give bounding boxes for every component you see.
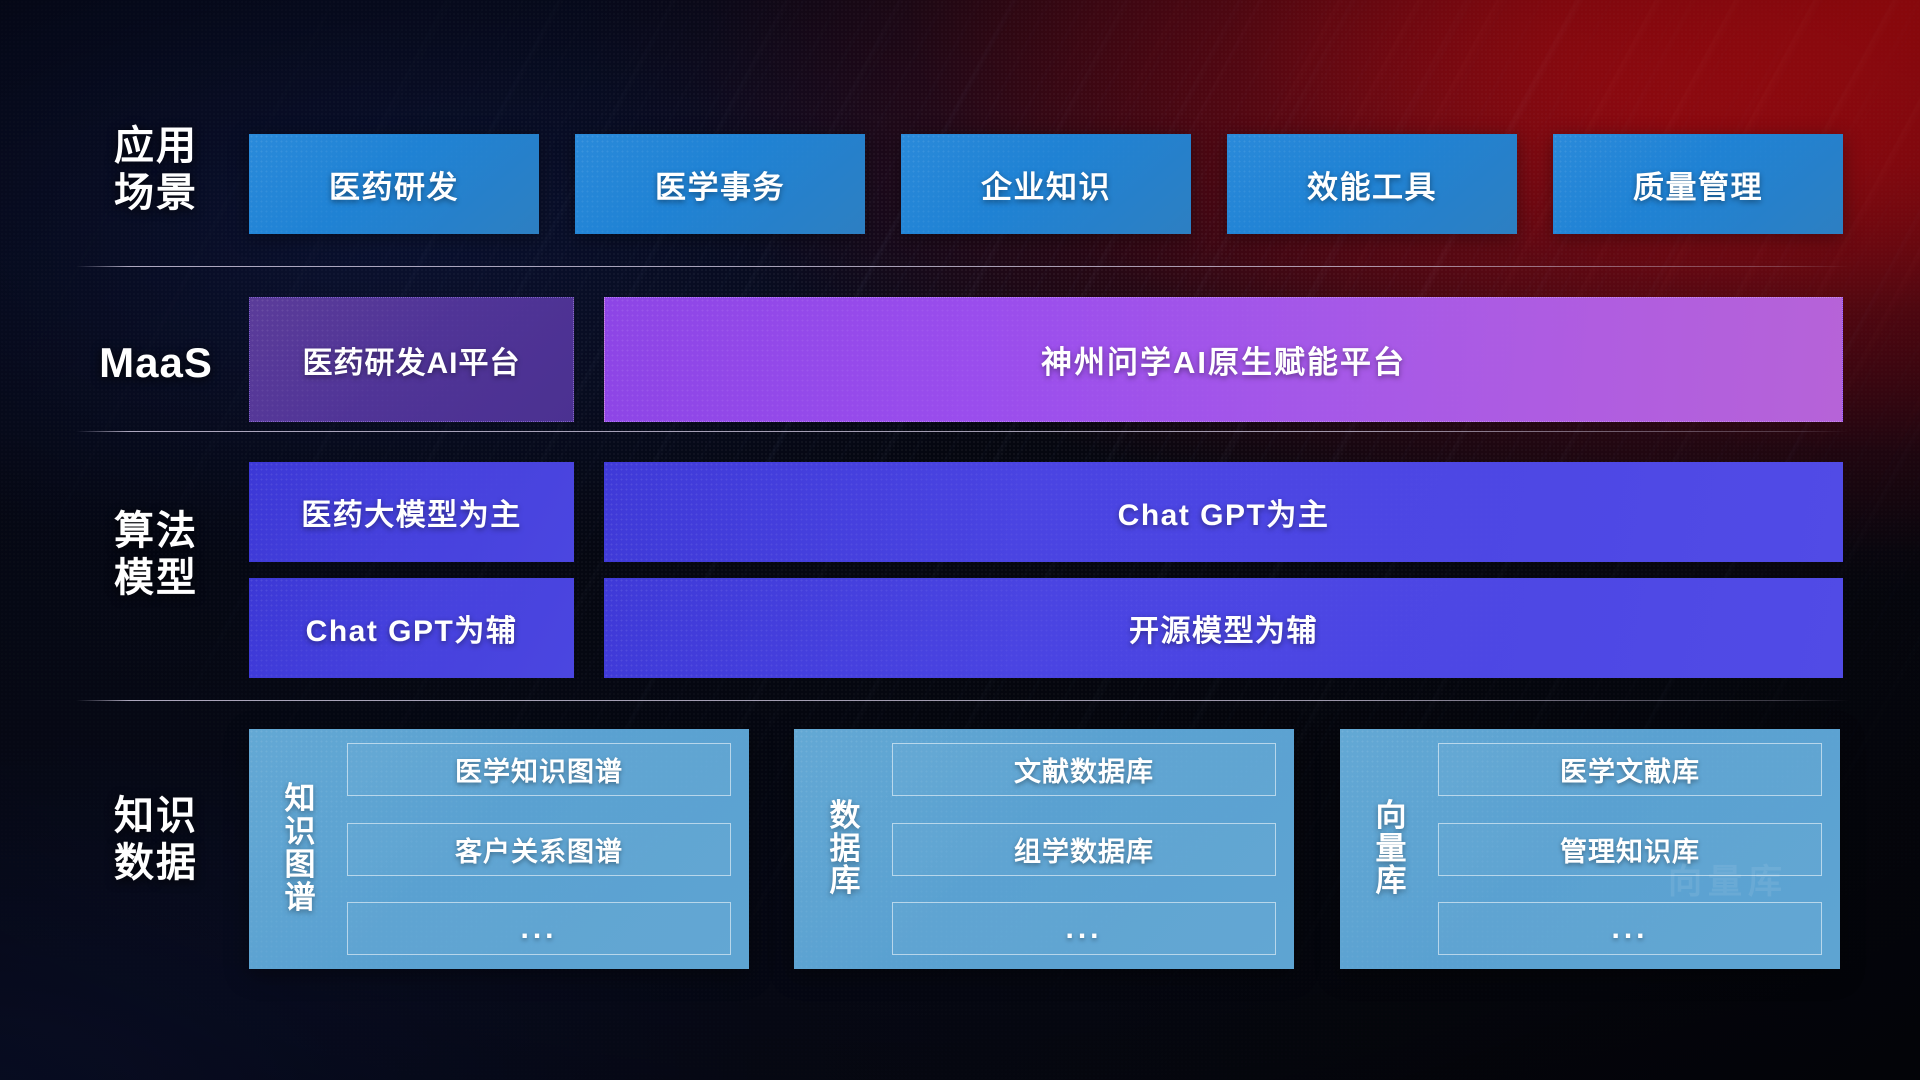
maas-box-drug-rnd-ai-platform[interactable]: 医药研发AI平台 bbox=[249, 297, 574, 422]
knowledge-item[interactable]: 组学数据库 bbox=[892, 823, 1276, 876]
maas-box-label: 医药研发AI平台 bbox=[303, 338, 521, 382]
maas-box-label: 神州问学AI原生赋能平台 bbox=[1041, 337, 1406, 382]
algo-box-label: Chat GPT为主 bbox=[1118, 490, 1330, 534]
algo-box-chatgpt-secondary[interactable]: Chat GPT为辅 bbox=[249, 578, 574, 678]
app-box-label: 效能工具 bbox=[1307, 162, 1437, 207]
app-box-label: 医药研发 bbox=[329, 162, 459, 207]
row-label-knowledge-data: 知识 数据 bbox=[76, 793, 236, 887]
knowledge-panel-item-list: 医学知识图谱 客户关系图谱 ... bbox=[347, 743, 731, 955]
maas-box-shenzhou-wenxue-platform[interactable]: 神州问学AI原生赋能平台 bbox=[604, 297, 1843, 422]
app-box-quality-management[interactable]: 质量管理 bbox=[1553, 134, 1843, 234]
algo-box-label: 医药大模型为主 bbox=[301, 490, 522, 534]
knowledge-panel-vertical-label: 向 量 库 bbox=[1354, 800, 1428, 899]
knowledge-item[interactable]: 管理知识库 bbox=[1438, 823, 1822, 876]
row-label-maas: MaaS bbox=[76, 338, 236, 388]
knowledge-panel-knowledge-graph[interactable]: 知 识 图 谱 医学知识图谱 客户关系图谱 ... bbox=[249, 729, 749, 969]
algo-box-label: Chat GPT为辅 bbox=[306, 606, 518, 650]
knowledge-panel-item-list: 医学文献库 管理知识库 ... bbox=[1438, 743, 1822, 955]
knowledge-panel-database[interactable]: 数 据 库 文献数据库 组学数据库 ... bbox=[794, 729, 1294, 969]
knowledge-item-more[interactable]: ... bbox=[1438, 902, 1822, 955]
app-box-drug-rnd[interactable]: 医药研发 bbox=[249, 134, 539, 234]
app-box-medical-affairs[interactable]: 医学事务 bbox=[575, 134, 865, 234]
app-box-enterprise-knowledge[interactable]: 企业知识 bbox=[901, 134, 1191, 234]
knowledge-item[interactable]: 文献数据库 bbox=[892, 743, 1276, 796]
knowledge-item[interactable]: 医学知识图谱 bbox=[347, 743, 731, 796]
algo-box-drug-large-model-primary[interactable]: 医药大模型为主 bbox=[249, 462, 574, 562]
divider-after-application-row bbox=[76, 266, 1850, 267]
divider-after-algorithm-row bbox=[76, 700, 1850, 701]
knowledge-panel-vector-store[interactable]: 向量库 向 量 库 医学文献库 管理知识库 ... bbox=[1340, 729, 1840, 969]
knowledge-item-more[interactable]: ... bbox=[347, 902, 731, 955]
knowledge-panel-item-list: 文献数据库 组学数据库 ... bbox=[892, 743, 1276, 955]
app-box-label: 企业知识 bbox=[981, 162, 1111, 207]
row-label-application-scenarios: 应用 场景 bbox=[76, 123, 236, 217]
knowledge-panel-vertical-label: 知 识 图 谱 bbox=[263, 783, 337, 914]
algo-box-opensource-secondary[interactable]: 开源模型为辅 bbox=[604, 578, 1843, 678]
knowledge-item[interactable]: 客户关系图谱 bbox=[347, 823, 731, 876]
diagram-content: 应用 场景 医药研发 医学事务 企业知识 效能工具 质量管理 MaaS 医药研发… bbox=[0, 0, 1920, 1080]
app-box-label: 医学事务 bbox=[655, 162, 785, 207]
knowledge-panel-vertical-label: 数 据 库 bbox=[808, 800, 882, 899]
divider-after-maas-row bbox=[76, 431, 1850, 432]
knowledge-item-more[interactable]: ... bbox=[892, 902, 1276, 955]
algo-box-label: 开源模型为辅 bbox=[1129, 606, 1318, 650]
knowledge-item[interactable]: 医学文献库 bbox=[1438, 743, 1822, 796]
app-box-label: 质量管理 bbox=[1633, 162, 1763, 207]
app-box-efficiency-tools[interactable]: 效能工具 bbox=[1227, 134, 1517, 234]
row-label-algorithm-models: 算法 模型 bbox=[76, 508, 236, 602]
architecture-diagram-canvas: 应用 场景 医药研发 医学事务 企业知识 效能工具 质量管理 MaaS 医药研发… bbox=[0, 0, 1920, 1080]
algo-box-chatgpt-primary[interactable]: Chat GPT为主 bbox=[604, 462, 1843, 562]
